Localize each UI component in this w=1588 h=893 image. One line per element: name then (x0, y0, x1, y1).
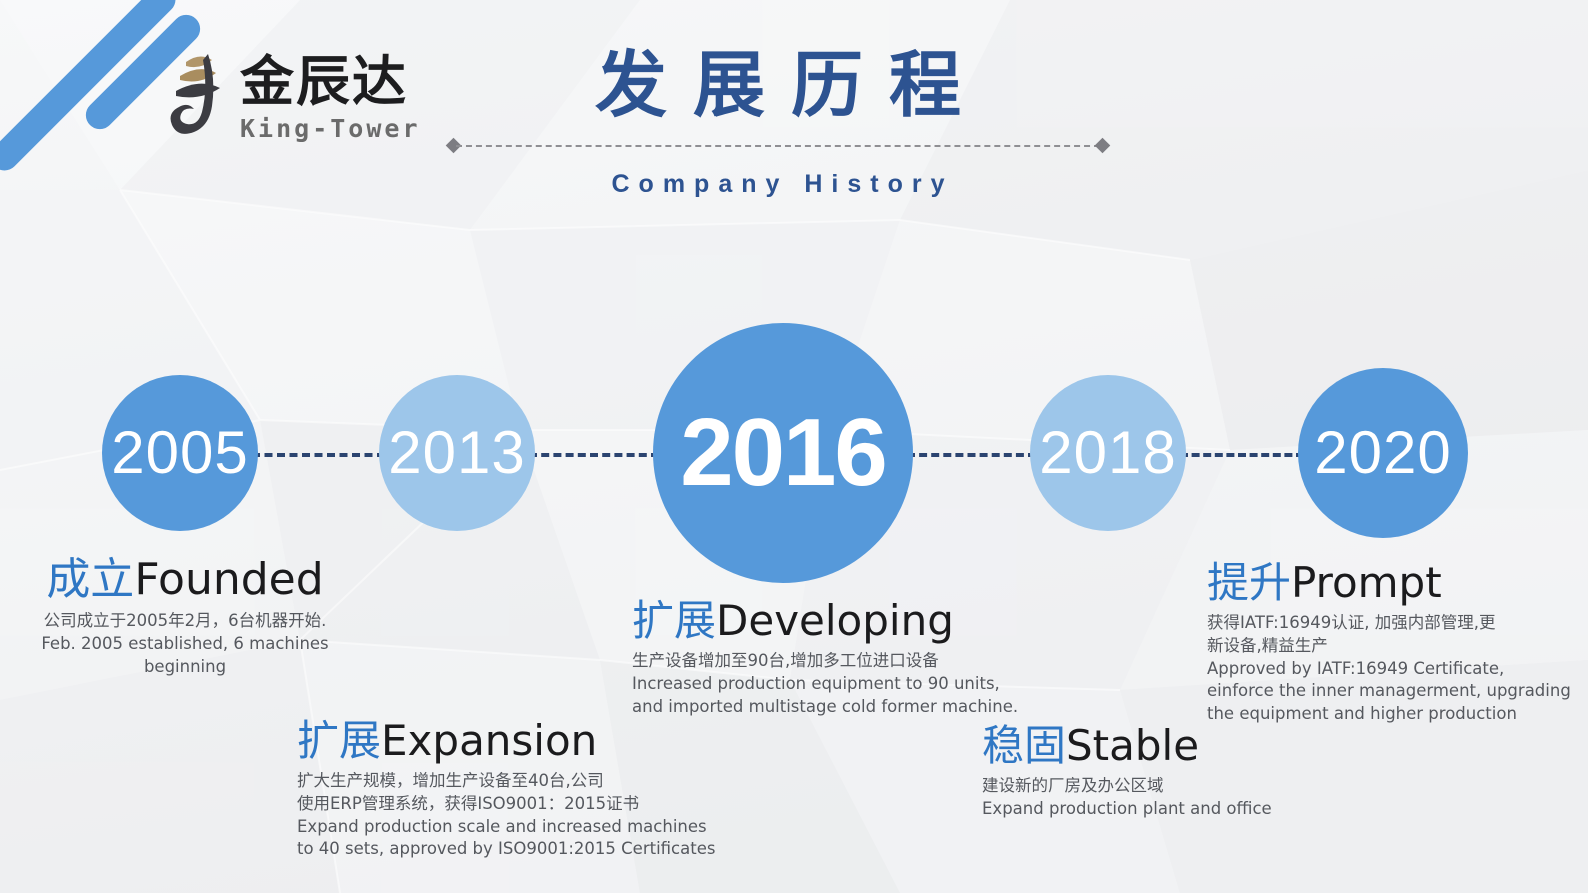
timeline-entry-2013: 扩展Expansion扩大生产规模，增加生产设备至40台,公司 使用ERP管理系… (297, 718, 717, 861)
timeline-node-2018[interactable]: 2018 (1030, 375, 1186, 531)
timeline-body-2018: 建设新的厂房及办公区域 Expand production plant and … (982, 775, 1382, 821)
timeline-heading-en-2005: Founded (134, 554, 323, 605)
timeline-heading-cn-2020: 提升 (1207, 558, 1291, 607)
timeline-heading-cn-2016: 扩展 (632, 596, 716, 645)
timeline-connector-2013-2016 (529, 453, 659, 457)
spiral-tower-logo-icon (168, 46, 230, 150)
timeline-node-2020[interactable]: 2020 (1298, 368, 1468, 538)
dashed-line (456, 145, 1100, 147)
timeline-body-2016: 生产设备增加至90台,增加多工位进口设备 Increased productio… (632, 650, 1052, 718)
page-title-cn: 发展历程 (448, 40, 1108, 130)
timeline-heading-2005: 成立Founded (20, 556, 350, 604)
timeline-body-2005: 公司成立于2005年2月，6台机器开始. Feb. 2005 establish… (20, 610, 350, 678)
timeline-entry-2018: 稳固Stable建设新的厂房及办公区域 Expand production pl… (982, 723, 1382, 821)
timeline-heading-cn-2005: 成立 (46, 554, 134, 605)
timeline-connector-2018-2020 (1180, 453, 1304, 457)
timeline-node-2005[interactable]: 2005 (102, 375, 258, 531)
timeline-body-2020: 获得IATF:16949认证, 加强内部管理,更 新设备,精益生产 Approv… (1207, 612, 1579, 726)
timeline-heading-cn-2018: 稳固 (982, 721, 1066, 770)
timeline-year-label-2016: 2016 (680, 405, 886, 501)
timeline-year-label-2018: 2018 (1039, 423, 1176, 483)
timeline-entry-2016: 扩展Developing生产设备增加至90台,增加多工位进口设备 Increas… (632, 598, 1052, 718)
timeline-heading-en-2013: Expansion (381, 716, 597, 765)
timeline-node-2016[interactable]: 2016 (653, 323, 913, 583)
timeline-heading-en-2018: Stable (1066, 721, 1199, 770)
title-block: 发展历程 Company History (448, 40, 1108, 199)
timeline-body-2013: 扩大生产规模，增加生产设备至40台,公司 使用ERP管理系统，获得ISO9001… (297, 770, 717, 861)
timeline-year-label-2013: 2013 (388, 423, 525, 483)
timeline-entry-2005: 成立Founded公司成立于2005年2月，6台机器开始. Feb. 2005 … (20, 556, 350, 679)
timeline-heading-2016: 扩展Developing (632, 598, 1052, 644)
timeline-heading-2020: 提升Prompt (1207, 560, 1579, 606)
timeline-year-label-2020: 2020 (1314, 423, 1451, 483)
timeline-connector-2005-2013 (252, 453, 385, 457)
logo-text-cn: 金辰达 (240, 55, 421, 109)
timeline-connector-2016-2018 (907, 453, 1036, 457)
timeline-heading-cn-2013: 扩展 (297, 716, 381, 765)
timeline-heading-en-2016: Developing (716, 596, 954, 645)
timeline-heading-en-2020: Prompt (1291, 558, 1442, 607)
timeline-year-label-2005: 2005 (111, 423, 248, 483)
timeline-node-2013[interactable]: 2013 (379, 375, 535, 531)
timeline-heading-2018: 稳固Stable (982, 723, 1382, 769)
page-title-en: Company History (448, 170, 1108, 199)
timeline-entry-2020: 提升Prompt获得IATF:16949认证, 加强内部管理,更 新设备,精益生… (1207, 560, 1579, 726)
brand-logo: 金辰达 King-Tower (168, 46, 421, 150)
title-divider (448, 138, 1108, 154)
timeline-heading-2013: 扩展Expansion (297, 718, 717, 764)
header: 金辰达 King-Tower 发展历程 Company History (0, 0, 1588, 210)
logo-text-en: King-Tower (240, 116, 421, 141)
diamond-right-icon (1095, 138, 1111, 154)
